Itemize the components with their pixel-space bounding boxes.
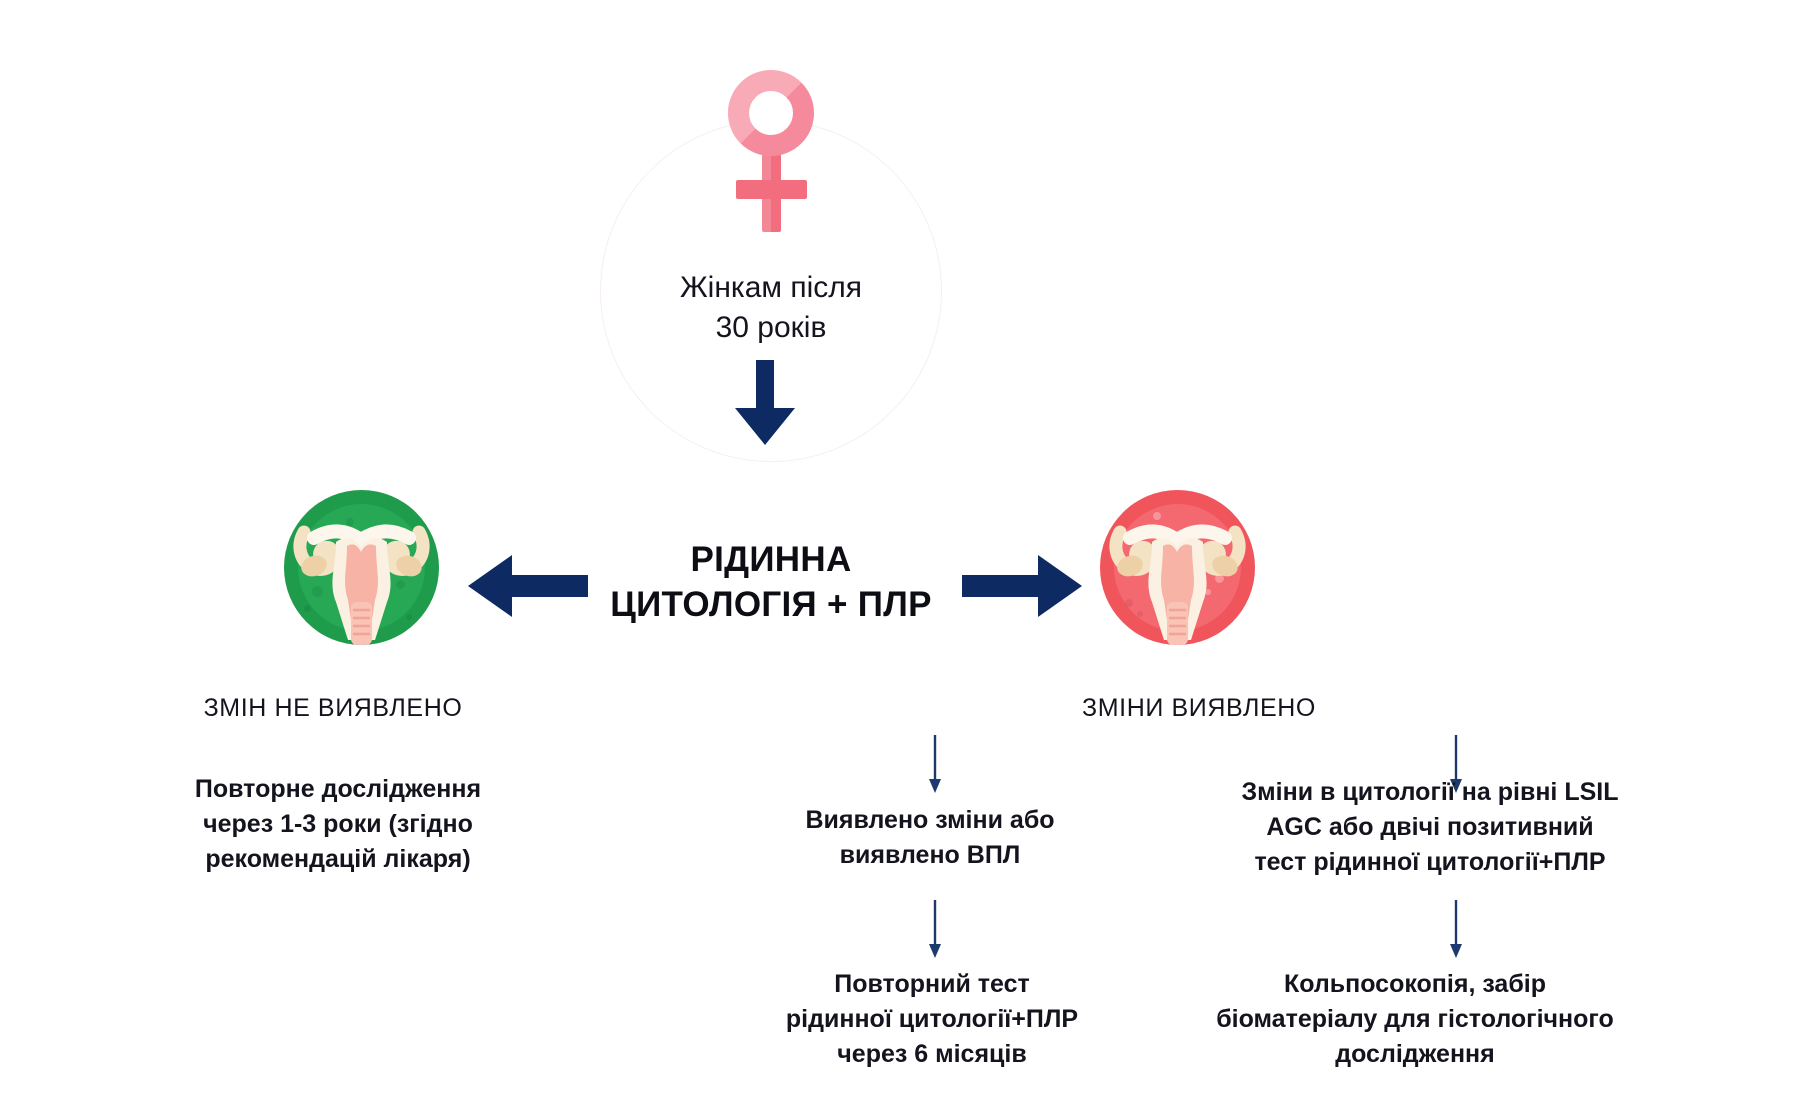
arrow-down-thin-mid-1 [928,735,942,793]
right-branch-step-1: Зміни в цитології на рівні LSIL AGC або … [1210,775,1650,880]
diagram-canvas: Жінкам після 30 років РІДИННА ЦИТОЛОГІЯ … [0,0,1797,1100]
uterus-illustration [1100,490,1255,645]
uterus-illustration [284,490,439,645]
right-branch-step-2: Кольпосокопія, забір біоматеріалу для гі… [1190,967,1640,1072]
female-gender-icon [706,70,836,235]
middle-branch-step-2: Повторний тест рідинної цитології+ПЛР че… [757,967,1107,1072]
arrow-down-thin-right-2 [1449,900,1463,958]
arrow-right-main [962,555,1082,617]
right-status-label: ЗМІНИ ВИЯВЛЕНО [1044,692,1354,725]
female-icon-ring [728,70,814,156]
top-audience-label: Жінкам після 30 років [571,268,971,348]
arrow-down-main [735,360,795,445]
uterus-green-circle-icon [284,490,439,645]
arrow-down-thin-mid-2 [928,900,942,958]
arrow-left-main [468,555,588,617]
uterus-red-circle-icon [1100,490,1255,645]
left-status-label: ЗМІН НЕ ВИЯВЛЕНО [163,692,503,725]
female-icon-cross [736,180,807,199]
center-title: РІДИННА ЦИТОЛОГІЯ + ПЛР [556,538,986,628]
left-branch-step-1: Повторне дослідження через 1-3 роки (згі… [158,772,518,877]
middle-branch-step-1: Виявлено зміни або виявлено ВПЛ [765,803,1095,873]
